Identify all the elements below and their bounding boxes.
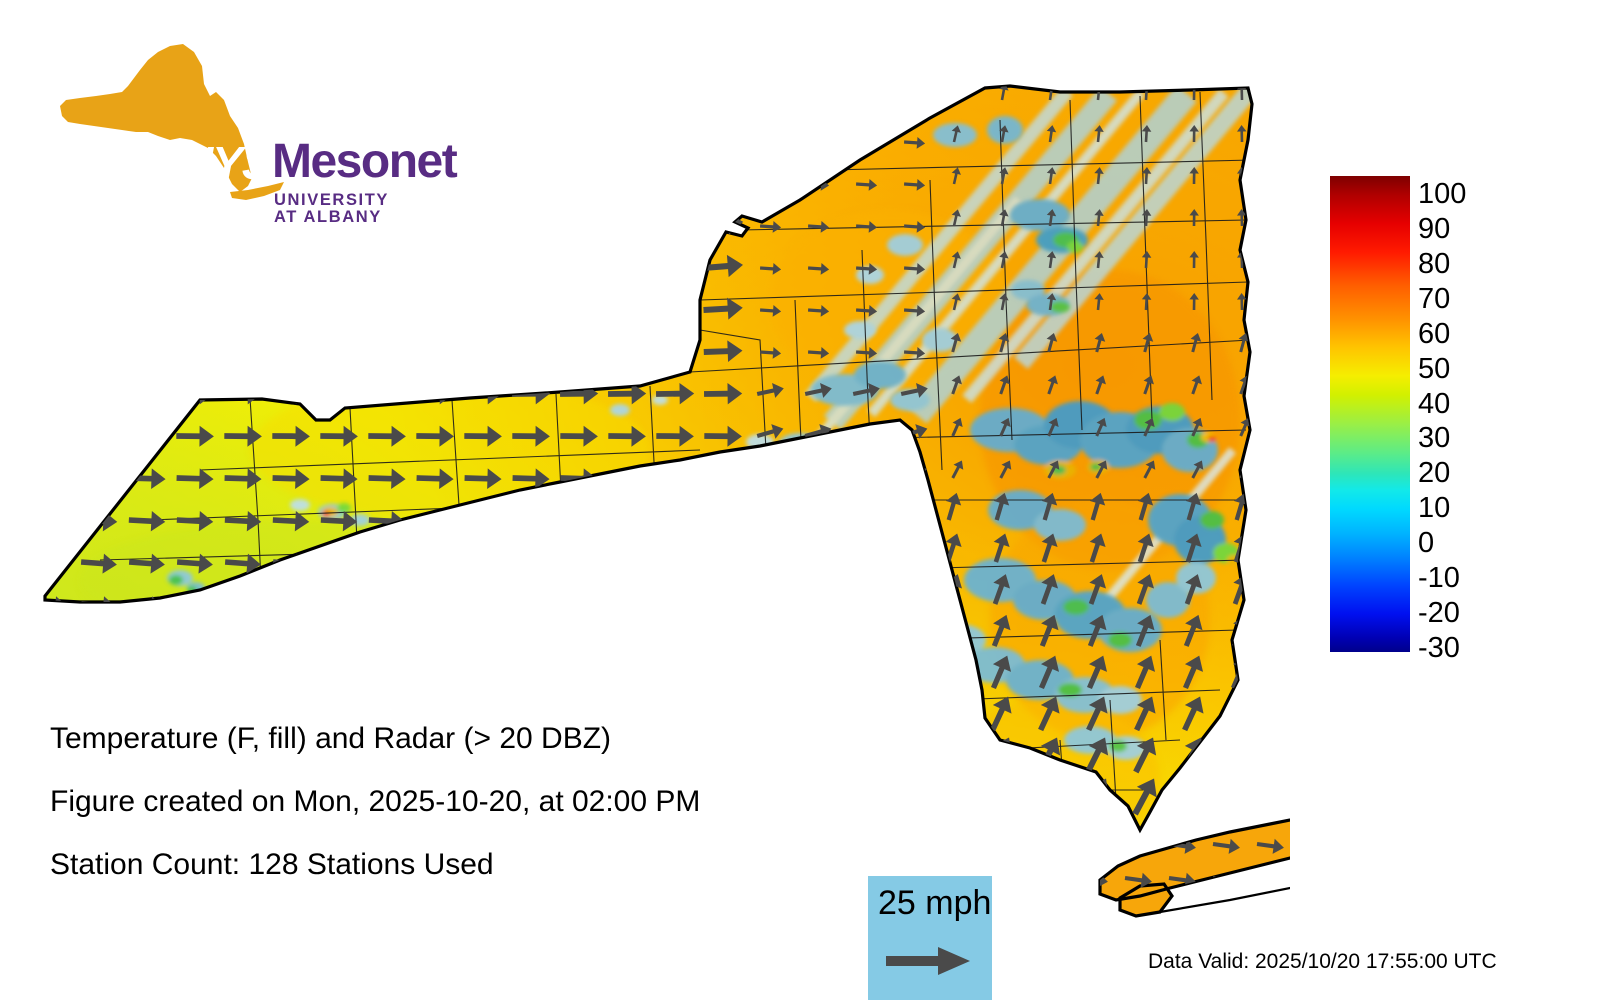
wind-arrow bbox=[760, 94, 782, 107]
wind-arrow bbox=[465, 679, 501, 703]
temperature-colorbar bbox=[1330, 176, 1410, 652]
wind-arrow bbox=[127, 297, 168, 321]
wind-arrow bbox=[416, 594, 453, 617]
wind-arrow bbox=[318, 254, 360, 279]
wind-arrow bbox=[848, 665, 879, 694]
wind-arrow bbox=[754, 543, 785, 569]
colorbar-tick-30: 30 bbox=[1418, 424, 1450, 453]
wind-arrow bbox=[369, 636, 406, 659]
wind-arrow bbox=[223, 297, 264, 321]
wind-arrow bbox=[32, 425, 70, 446]
wind-arrow bbox=[221, 124, 266, 153]
wind-arrow bbox=[653, 124, 698, 153]
wind-arrow bbox=[320, 594, 357, 617]
wind-arrow bbox=[760, 178, 782, 191]
wind-arrow bbox=[605, 124, 650, 153]
wind-arrow bbox=[655, 340, 694, 363]
wind-arrow bbox=[904, 94, 926, 107]
wind-arrow bbox=[856, 94, 878, 107]
wind-arrow bbox=[175, 340, 214, 363]
wind-arrow bbox=[222, 211, 265, 238]
wind-arrow bbox=[607, 297, 648, 321]
wind-arrow bbox=[173, 124, 218, 153]
wind-arrow bbox=[606, 254, 648, 279]
wind-arrow bbox=[512, 552, 549, 575]
wind-arrow bbox=[800, 706, 830, 736]
colorbar-tick-80: 80 bbox=[1418, 250, 1450, 279]
wind-arrow bbox=[368, 594, 405, 617]
wind-speed-legend: 25 mph bbox=[868, 876, 992, 1000]
wind-arrow bbox=[701, 168, 745, 196]
wind-arrow bbox=[30, 254, 72, 279]
wind-arrow bbox=[754, 502, 785, 527]
wind-arrow bbox=[656, 552, 693, 575]
wind-arrow bbox=[319, 340, 358, 363]
wind-arrow bbox=[414, 211, 457, 238]
wind-arrow bbox=[512, 510, 549, 532]
wind-arrow bbox=[704, 468, 742, 490]
wind-arrow bbox=[934, 733, 970, 777]
wind-arrow bbox=[560, 594, 597, 617]
wind-arrow bbox=[462, 254, 504, 279]
wind-arrow bbox=[32, 468, 70, 490]
wind-arrow bbox=[321, 636, 358, 659]
wind-arrow bbox=[271, 340, 310, 363]
wind-arrow bbox=[173, 168, 217, 196]
wind-arrow bbox=[321, 763, 357, 787]
wind-arrow bbox=[29, 124, 74, 153]
wind-arrow bbox=[461, 124, 506, 153]
wind-arrow bbox=[464, 594, 501, 617]
wind-arrow bbox=[176, 594, 213, 617]
wind-arrow bbox=[367, 340, 406, 363]
wind-arrow bbox=[1080, 904, 1109, 923]
wind-arrow bbox=[174, 211, 217, 238]
wind-arrow bbox=[77, 124, 122, 153]
wind-arrow bbox=[752, 747, 782, 777]
wind-arrow bbox=[511, 340, 550, 363]
wind-arrow bbox=[608, 510, 645, 532]
wind-arrow bbox=[561, 763, 597, 787]
wind-arrow bbox=[80, 383, 118, 405]
wind-arrow bbox=[128, 383, 166, 405]
colorbar-tick-10: 10 bbox=[1418, 494, 1450, 523]
wind-arrow bbox=[272, 594, 309, 617]
wind-arrow bbox=[609, 721, 645, 745]
wind-arrow bbox=[78, 254, 120, 279]
wind-arrow bbox=[369, 679, 405, 703]
wind-arrow bbox=[31, 340, 70, 363]
wind-arrow bbox=[513, 636, 550, 659]
wind-arrow bbox=[414, 254, 456, 279]
wind-arrow bbox=[1256, 802, 1285, 821]
wind-arrow bbox=[848, 706, 878, 736]
wind-arrow bbox=[416, 552, 453, 575]
wind-arrow bbox=[656, 594, 693, 617]
wind-arrow bbox=[559, 297, 600, 321]
wind-arrow bbox=[368, 552, 405, 575]
wind-arrow bbox=[365, 124, 410, 153]
wind-arrow bbox=[177, 763, 213, 787]
wind-arrow bbox=[510, 211, 553, 238]
wind-arrow bbox=[175, 297, 216, 321]
wind-arrow bbox=[269, 124, 314, 153]
wind-arrow bbox=[509, 124, 554, 153]
wind-arrow bbox=[465, 763, 501, 787]
wind-arrow bbox=[463, 297, 504, 321]
wind-arrow bbox=[464, 552, 501, 575]
wind-arrow bbox=[33, 679, 69, 703]
wind-arrow bbox=[849, 624, 880, 652]
figure-created-timestamp: Figure created on Mon, 2025-10-20, at 02… bbox=[50, 785, 700, 819]
wind-arrow bbox=[508, 81, 553, 111]
wind-arrow bbox=[460, 81, 505, 111]
wind-arrow bbox=[127, 340, 166, 363]
wind-arrow bbox=[850, 543, 881, 569]
wind-arrow bbox=[1256, 870, 1285, 889]
wind-arrow bbox=[366, 211, 409, 238]
wind-arrow bbox=[129, 763, 165, 787]
colorbar-tick-0: 0 bbox=[1418, 529, 1434, 558]
wind-arrow bbox=[938, 611, 968, 649]
wind-arrow bbox=[753, 624, 784, 652]
wind-arrow bbox=[270, 254, 312, 279]
figure-title: Temperature (F, fill) and Radar (> 20 DB… bbox=[50, 722, 611, 756]
wind-arrow bbox=[705, 721, 741, 745]
wind-arrow bbox=[897, 624, 928, 652]
wind-arrow bbox=[368, 383, 406, 405]
wind-arrow bbox=[461, 168, 505, 196]
wind-arrow bbox=[753, 583, 784, 610]
wind-arrow bbox=[31, 297, 72, 321]
wind-arrow bbox=[221, 168, 265, 196]
wind-arrow bbox=[225, 763, 261, 787]
wind-arrow bbox=[273, 763, 309, 787]
wind-arrow bbox=[1221, 773, 1260, 819]
wind-arrow bbox=[268, 81, 313, 111]
wind-arrow bbox=[417, 763, 453, 787]
wind-arrow bbox=[557, 124, 602, 153]
colorbar-tick-60: 60 bbox=[1418, 320, 1450, 349]
wind-arrow bbox=[271, 297, 312, 321]
wind-arrow bbox=[800, 747, 830, 777]
station-count-label: Station Count: 128 Stations Used bbox=[50, 848, 494, 882]
colorbar-tick-50: 50 bbox=[1418, 355, 1450, 384]
wind-arrow bbox=[77, 168, 121, 196]
wind-arrow bbox=[560, 552, 597, 575]
colorbar-tick--20: -20 bbox=[1418, 599, 1460, 628]
wind-arrow bbox=[317, 168, 361, 196]
wind-arrow bbox=[609, 636, 646, 659]
wind-arrow bbox=[655, 297, 696, 321]
wind-arrow bbox=[654, 254, 696, 279]
wind-arrow bbox=[511, 297, 552, 321]
wind-arrow bbox=[225, 679, 261, 703]
colorbar-tick-20: 20 bbox=[1418, 459, 1450, 488]
wind-arrow bbox=[801, 624, 832, 652]
wind-arrow bbox=[513, 763, 549, 787]
wind-arrow bbox=[366, 254, 408, 279]
wind-arrow bbox=[415, 297, 456, 321]
colorbar-gradient bbox=[1330, 176, 1410, 652]
wind-arrow bbox=[317, 124, 362, 153]
colorbar-tick-90: 90 bbox=[1418, 215, 1450, 244]
wind-arrow bbox=[656, 468, 694, 490]
wind-arrow bbox=[28, 81, 73, 111]
wind-arrow bbox=[79, 297, 120, 321]
wind-arrow bbox=[606, 211, 649, 238]
wind-arrow bbox=[556, 81, 601, 111]
wind-arrow bbox=[850, 502, 881, 527]
wind-arrow bbox=[896, 747, 926, 777]
wind-arrow bbox=[129, 679, 165, 703]
wind-arrow bbox=[949, 82, 962, 101]
wind-arrow bbox=[801, 583, 832, 610]
wind-arrow bbox=[652, 81, 697, 111]
wind-arrow bbox=[802, 502, 833, 527]
wind-arrow bbox=[605, 168, 649, 196]
wind-arrow bbox=[657, 679, 693, 703]
wind-arrow bbox=[174, 254, 216, 279]
wind-arrow bbox=[415, 340, 454, 363]
wind-arrow bbox=[851, 462, 882, 485]
wind-arrow-icon bbox=[886, 944, 976, 978]
wind-arrow bbox=[561, 679, 597, 703]
wind-arrow bbox=[561, 636, 598, 659]
wind-arrow bbox=[802, 543, 833, 569]
wind-arrow bbox=[760, 136, 782, 149]
wind-arrow bbox=[800, 665, 831, 694]
wind-arrow bbox=[33, 763, 69, 787]
wind-arrow bbox=[273, 679, 309, 703]
wind-arrow bbox=[657, 636, 694, 659]
wind-arrow bbox=[269, 168, 313, 196]
wind-arrow bbox=[848, 747, 878, 777]
wind-arrow bbox=[81, 679, 117, 703]
wind-arrow bbox=[808, 94, 830, 107]
wind-arrow bbox=[657, 721, 693, 745]
wind-arrow bbox=[319, 297, 360, 321]
wind-speed-legend-label: 25 mph bbox=[878, 884, 991, 923]
wind-arrow bbox=[604, 81, 649, 111]
wind-arrow bbox=[704, 510, 741, 532]
wind-arrow bbox=[128, 425, 166, 446]
wind-arrow bbox=[1029, 773, 1068, 819]
wind-arrow bbox=[607, 340, 646, 363]
wind-arrow bbox=[273, 636, 310, 659]
wind-arrow bbox=[316, 81, 361, 111]
wind-arrow bbox=[1212, 904, 1241, 923]
wind-arrow bbox=[608, 552, 645, 575]
wind-arrow bbox=[318, 211, 361, 238]
wind-arrow bbox=[752, 706, 782, 736]
wind-arrow bbox=[320, 383, 358, 405]
data-valid-timestamp: Data Valid: 2025/10/20 17:55:00 UTC bbox=[1148, 950, 1497, 974]
wind-arrow bbox=[558, 211, 601, 238]
wind-arrow bbox=[124, 81, 169, 111]
wind-arrow bbox=[897, 583, 928, 610]
wind-arrow bbox=[704, 552, 741, 575]
wind-arrow bbox=[512, 594, 549, 617]
wind-arrow bbox=[1080, 802, 1109, 821]
wind-arrow bbox=[177, 636, 214, 659]
wind-arrow bbox=[509, 168, 553, 196]
colorbar-tick-40: 40 bbox=[1418, 390, 1450, 419]
colorbar-tick--30: -30 bbox=[1418, 634, 1460, 663]
wind-arrow bbox=[320, 552, 357, 575]
wind-arrow bbox=[700, 81, 745, 111]
wind-arrow bbox=[1173, 773, 1212, 819]
wind-arrow bbox=[417, 636, 454, 659]
wind-arrow bbox=[81, 636, 118, 659]
wind-arrow bbox=[126, 254, 168, 279]
wind-arrow bbox=[223, 340, 262, 363]
wind-arrow bbox=[1256, 904, 1285, 923]
wind-arrow bbox=[935, 692, 969, 734]
wind-arrow bbox=[29, 168, 73, 196]
wind-arrow bbox=[808, 136, 830, 149]
wind-arrow bbox=[896, 665, 927, 694]
wind-arrow bbox=[129, 636, 166, 659]
wind-arrow bbox=[560, 510, 597, 532]
wind-arrow bbox=[559, 340, 598, 363]
wind-arrow bbox=[417, 679, 453, 703]
wind-arrow bbox=[321, 679, 357, 703]
colorbar-tick-70: 70 bbox=[1418, 285, 1450, 314]
colorbar-tick--10: -10 bbox=[1418, 564, 1460, 593]
wind-arrow bbox=[367, 297, 408, 321]
wind-arrow bbox=[558, 254, 600, 279]
wind-arrow bbox=[32, 383, 70, 405]
wind-arrow bbox=[705, 679, 741, 703]
wind-arrow bbox=[653, 168, 697, 196]
wind-arrow bbox=[412, 81, 457, 111]
wind-arrow bbox=[365, 168, 409, 196]
wind-arrow bbox=[513, 679, 549, 703]
wind-arrow bbox=[32, 510, 69, 532]
wind-arrow bbox=[609, 679, 645, 703]
wind-arrow bbox=[705, 636, 742, 659]
wind-arrow bbox=[222, 254, 264, 279]
wind-arrow bbox=[656, 510, 693, 532]
wind-arrow bbox=[126, 211, 169, 238]
wind-arrow bbox=[609, 763, 645, 787]
wind-arrow bbox=[80, 425, 118, 446]
wind-arrow bbox=[33, 636, 70, 659]
wind-arrow bbox=[79, 340, 118, 363]
wind-arrow bbox=[172, 81, 217, 111]
wind-arrow bbox=[896, 706, 926, 736]
wind-arrow bbox=[177, 679, 213, 703]
wind-arrow bbox=[936, 652, 968, 692]
wind-arrow bbox=[847, 788, 876, 819]
wind-arrow bbox=[78, 211, 121, 238]
wind-arrow bbox=[895, 788, 924, 819]
wind-arrow bbox=[463, 340, 502, 363]
wind-arrow bbox=[755, 462, 786, 485]
wind-arrow bbox=[225, 636, 262, 659]
wind-arrow bbox=[856, 136, 878, 149]
wind-arrow bbox=[1212, 802, 1241, 821]
wind-arrow bbox=[1222, 733, 1258, 777]
wind-arrow bbox=[751, 788, 780, 819]
wind-arrow bbox=[803, 462, 834, 485]
colorbar-tick-100: 100 bbox=[1418, 180, 1466, 209]
wind-arrow bbox=[981, 773, 1020, 819]
wind-arrow bbox=[30, 211, 73, 238]
wind-arrow bbox=[752, 665, 783, 694]
wind-arrow bbox=[705, 763, 741, 787]
wind-arrow bbox=[76, 81, 121, 111]
wind-arrow bbox=[413, 124, 458, 153]
wind-arrow bbox=[81, 763, 117, 787]
wind-arrow bbox=[465, 636, 502, 659]
wind-arrow bbox=[705, 805, 740, 829]
wind-arrow bbox=[364, 81, 409, 111]
wind-arrow bbox=[654, 211, 697, 238]
wind-arrow bbox=[224, 594, 261, 617]
wind-arrow bbox=[849, 583, 880, 610]
wind-arrow bbox=[704, 594, 741, 617]
wind-arrow bbox=[220, 81, 265, 111]
wind-arrow bbox=[369, 763, 405, 787]
wind-arrow bbox=[462, 211, 505, 238]
wind-arrow bbox=[557, 168, 601, 196]
wind-arrow bbox=[80, 468, 118, 490]
wind-arrow bbox=[657, 763, 693, 787]
wind-arrow bbox=[608, 594, 645, 617]
wind-arrow bbox=[898, 502, 929, 527]
wind-arrow bbox=[125, 168, 169, 196]
wind-arrow bbox=[510, 254, 552, 279]
wind-arrow bbox=[1168, 802, 1197, 821]
wind-arrow bbox=[701, 124, 746, 153]
wind-arrow bbox=[464, 510, 501, 532]
wind-arrow bbox=[413, 168, 457, 196]
wind-arrow bbox=[125, 124, 170, 153]
wind-arrow bbox=[799, 788, 828, 819]
wind-arrow bbox=[933, 773, 972, 819]
wind-arrow bbox=[898, 543, 929, 569]
wind-arrow bbox=[270, 211, 313, 238]
wind-arrow bbox=[1080, 836, 1109, 855]
